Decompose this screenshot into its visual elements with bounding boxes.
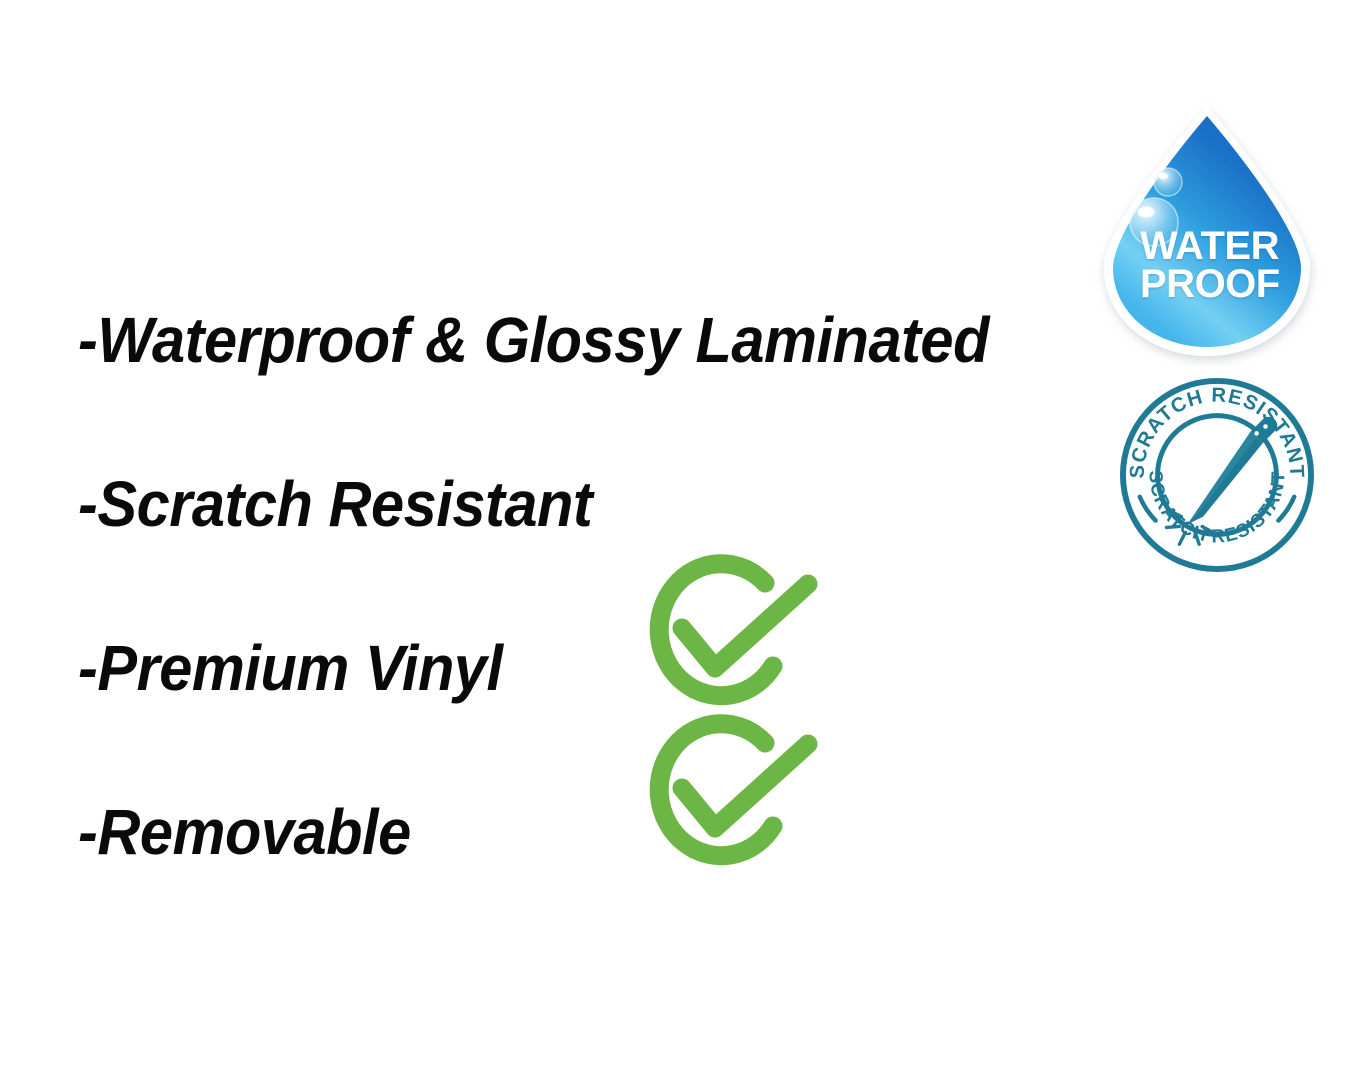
feature-label: -Scratch Resistant bbox=[78, 472, 592, 536]
feature-label: -Waterproof & Glossy Laminated bbox=[78, 308, 989, 372]
stamp-top-arc-text: SCRATCH RESISTANT bbox=[1126, 385, 1307, 479]
check-tick bbox=[682, 584, 808, 668]
waterproof-badge: WATER PROOF bbox=[1096, 104, 1318, 360]
knife-stamp-icon: SCRATCH RESISTANT SCRATCH RESISTANT bbox=[1118, 376, 1316, 574]
feature-item-premium-vinyl: -Premium Vinyl bbox=[78, 586, 1098, 750]
feature-label: -Removable bbox=[78, 800, 411, 864]
circle-check-icon bbox=[640, 556, 840, 716]
page-canvas: -Waterproof & Glossy Laminated -Scratch … bbox=[0, 0, 1359, 1080]
circle-check-icon bbox=[640, 716, 840, 876]
feature-item-removable: -Removable bbox=[78, 750, 1098, 914]
feature-item-scratch-resistant: -Scratch Resistant bbox=[78, 422, 1098, 586]
check-tick bbox=[682, 744, 808, 828]
scratch-resistant-badge: SCRATCH RESISTANT SCRATCH RESISTANT bbox=[1118, 376, 1316, 574]
check-premium-vinyl bbox=[640, 556, 840, 716]
feature-item-waterproof: -Waterproof & Glossy Laminated bbox=[78, 258, 1098, 422]
water-drop-icon bbox=[1096, 104, 1318, 360]
feature-label: -Premium Vinyl bbox=[78, 636, 503, 700]
check-removable bbox=[640, 716, 840, 876]
feature-list: -Waterproof & Glossy Laminated -Scratch … bbox=[78, 258, 1098, 914]
